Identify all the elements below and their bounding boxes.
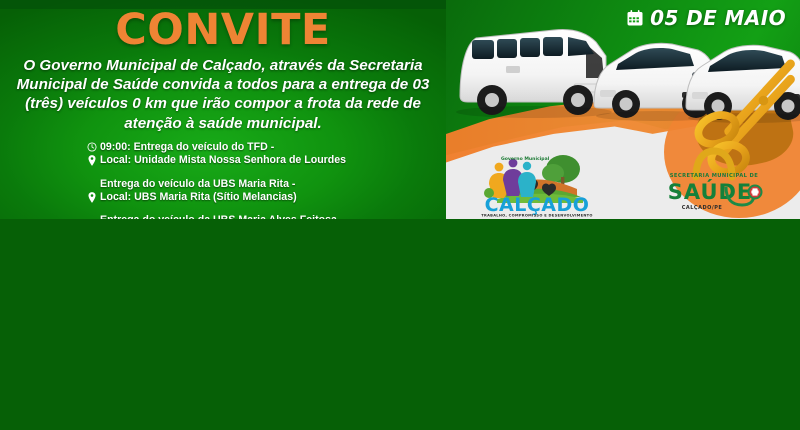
health-logo-subtitle-text: CALÇADO/PE <box>776 147 777 148</box>
city-logo-tagline: TRABALHO, COMPROMISSO E DESENVOLVIMENTO <box>481 214 593 218</box>
city-logo: Governo Municipal CALÇADO TRABALHO, COMP… <box>471 147 603 217</box>
schedule-location-line: Local: Unidade Mista Nossa Senhora de Lo… <box>86 154 446 167</box>
schedule-event-text: Entrega do veículo da UBS Maria Rita - <box>100 178 295 191</box>
map-pin-icon <box>86 154 98 167</box>
invite-panel: CONVITE O Governo Municipal de Calçado, … <box>0 0 800 219</box>
health-logo-name-text: SAÚDE <box>776 147 777 148</box>
van-vehicle <box>456 30 612 119</box>
city-logo-kicker-text: Governo Municipal <box>603 147 604 148</box>
poster-canvas: CONVITE O Governo Municipal de Calçado, … <box>0 0 800 430</box>
list-item: 09:00: Entrega do veículo do TFD - Local… <box>86 141 446 168</box>
schedule-location-text: Local: UBS Maria Rita (Sítio Melancias) <box>100 191 297 204</box>
schedule-location-line: Local: UBS Maria Rita (Sítio Melancias) <box>86 191 446 204</box>
date-badge-text: 05 DE MAIO <box>650 6 786 30</box>
schedule-event-line: 09:00: Entrega do veículo do TFD - <box>86 141 446 154</box>
calendar-icon <box>626 9 644 27</box>
page-title: CONVITE <box>0 0 446 54</box>
logo-row: Governo Municipal CALÇADO TRABALHO, COMP… <box>446 145 800 219</box>
vehicle-banner: 05 DE MAIO <box>446 0 800 219</box>
page-background-fill <box>0 219 800 430</box>
schedule-list: 09:00: Entrega do veículo do TFD - Local… <box>0 133 446 219</box>
health-logo-kicker-text: SECRETARIA MUNICIPAL DE <box>776 147 777 148</box>
health-logo-kicker: SECRETARIA MUNICIPAL DE <box>669 173 757 179</box>
schedule-event-line: Entrega do veículo da UBS Maria Rita - <box>86 178 446 191</box>
health-logo: SECRETARIA MUNICIPAL DE SAÚDE CALÇADO/PE… <box>652 147 776 217</box>
clock-icon <box>86 141 98 154</box>
invite-text-column: CONVITE O Governo Municipal de Calçado, … <box>0 0 446 219</box>
health-logo-name: SAÚDE <box>667 179 752 204</box>
city-logo-tagline-text: TRABALHO, COMPROMISSO E DESENVOLVIMENTO <box>603 147 604 148</box>
schedule-location-text: Local: Unidade Mista Nossa Senhora de Lo… <box>100 154 346 167</box>
schedule-event-text: 09:00: Entrega do veículo do TFD - <box>100 141 274 154</box>
health-logo-subtitle: CALÇADO/PE <box>681 205 722 211</box>
city-logo-kicker: Governo Municipal <box>501 156 550 162</box>
date-badge: 05 DE MAIO <box>626 6 786 30</box>
city-logo-name-text: CALÇADO <box>603 147 604 148</box>
invite-body-text: O Governo Municipal de Calçado, através … <box>0 54 446 133</box>
list-item: Entrega do veículo da UBS Maria Rita - L… <box>86 178 446 205</box>
map-pin-icon <box>86 191 98 204</box>
